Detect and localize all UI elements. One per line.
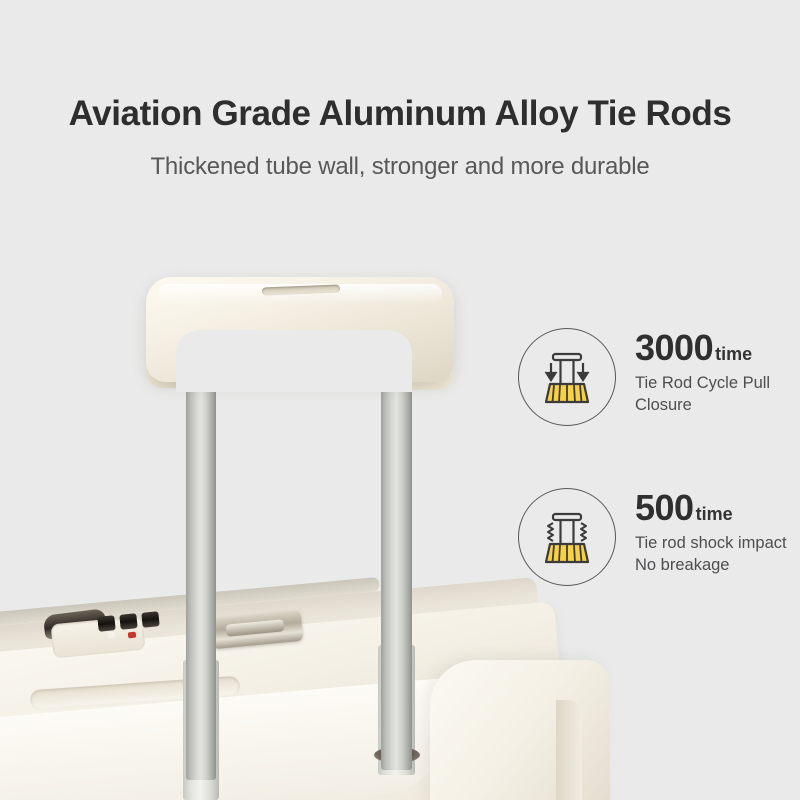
tie-rod-right — [381, 350, 412, 770]
page-subtitle: Thickened tube wall, stronger and more d… — [0, 153, 800, 181]
badge-text-block: 500 time Tie rod shock impact No breakag… — [635, 488, 787, 577]
badge-count-value: 500 — [635, 490, 694, 526]
badge-count-unit: time — [715, 345, 752, 363]
badge-count-row: 3000 time — [635, 330, 770, 366]
product-feature-banner: Aviation Grade Aluminum Alloy Tie Rods T… — [0, 0, 800, 800]
badge-description: Tie Rod Cycle Pull Closure — [635, 373, 770, 417]
badge-count-unit: time — [696, 505, 733, 523]
tie-rod-pull-cycle-icon — [536, 346, 598, 408]
lock-indicator-light — [108, 632, 116, 639]
tie-rod-shock-impact-icon — [536, 506, 598, 568]
lock-dial — [119, 613, 137, 630]
tie-rod-left — [186, 350, 216, 780]
luggage-right-corner — [430, 660, 610, 800]
badge-count-row: 500 time — [635, 490, 787, 526]
feature-badge-shock-impact: 500 time Tie rod shock impact No breakag… — [518, 488, 787, 586]
luggage-right-edge — [556, 700, 582, 800]
badge-description: Tie rod shock impact No breakage — [635, 533, 787, 577]
page-title: Aviation Grade Aluminum Alloy Tie Rods — [0, 94, 800, 134]
badge-icon-frame — [518, 488, 616, 586]
badge-text-block: 3000 time Tie Rod Cycle Pull Closure — [635, 328, 770, 417]
badge-icon-frame — [518, 328, 616, 426]
lock-indicator-red — [128, 632, 137, 639]
feature-badge-cycle-pull: 3000 time Tie Rod Cycle Pull Closure — [518, 328, 770, 426]
handle-under-arch — [176, 330, 412, 392]
lock-dial — [97, 615, 115, 632]
badge-count-value: 3000 — [635, 330, 713, 366]
lock-dial — [141, 611, 159, 628]
